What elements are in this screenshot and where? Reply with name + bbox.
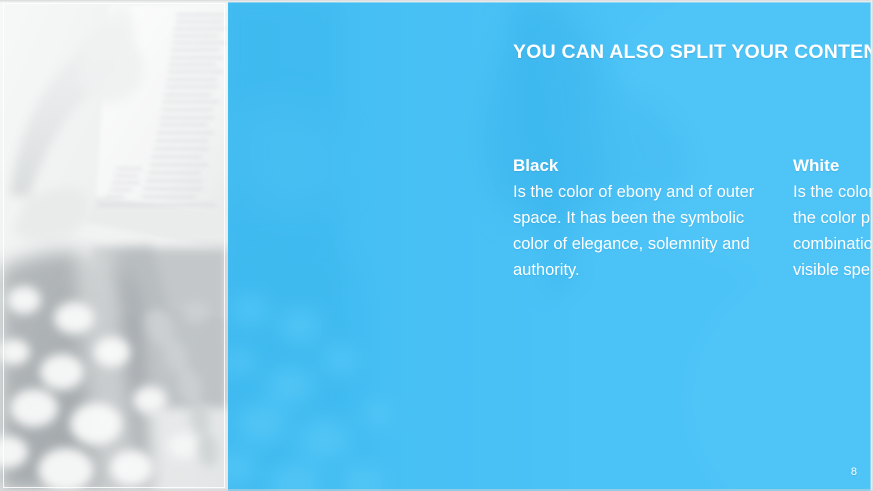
left-photo-panel [0,0,228,491]
book-photo [0,0,228,491]
slide: YOU CAN ALSO SPLIT YOUR CONTENT Black Is… [0,0,873,491]
column-heading-black: Black [513,155,768,177]
content-panel: YOU CAN ALSO SPLIT YOUR CONTENT Black Is… [228,0,873,491]
page-title: YOU CAN ALSO SPLIT YOUR CONTENT [513,40,873,64]
content-column-black: Black Is the color of ebony and of outer… [513,155,768,283]
page-number: 8 [851,465,857,479]
content-column-white: White Is the color of milk and fresh sno… [793,155,873,283]
slide-edge-top [0,0,873,3]
column-heading-white: White [793,155,873,177]
column-body-white: Is the color of milk and fresh snow, the… [793,179,873,283]
column-body-black: Is the color of ebony and of outer space… [513,179,768,283]
